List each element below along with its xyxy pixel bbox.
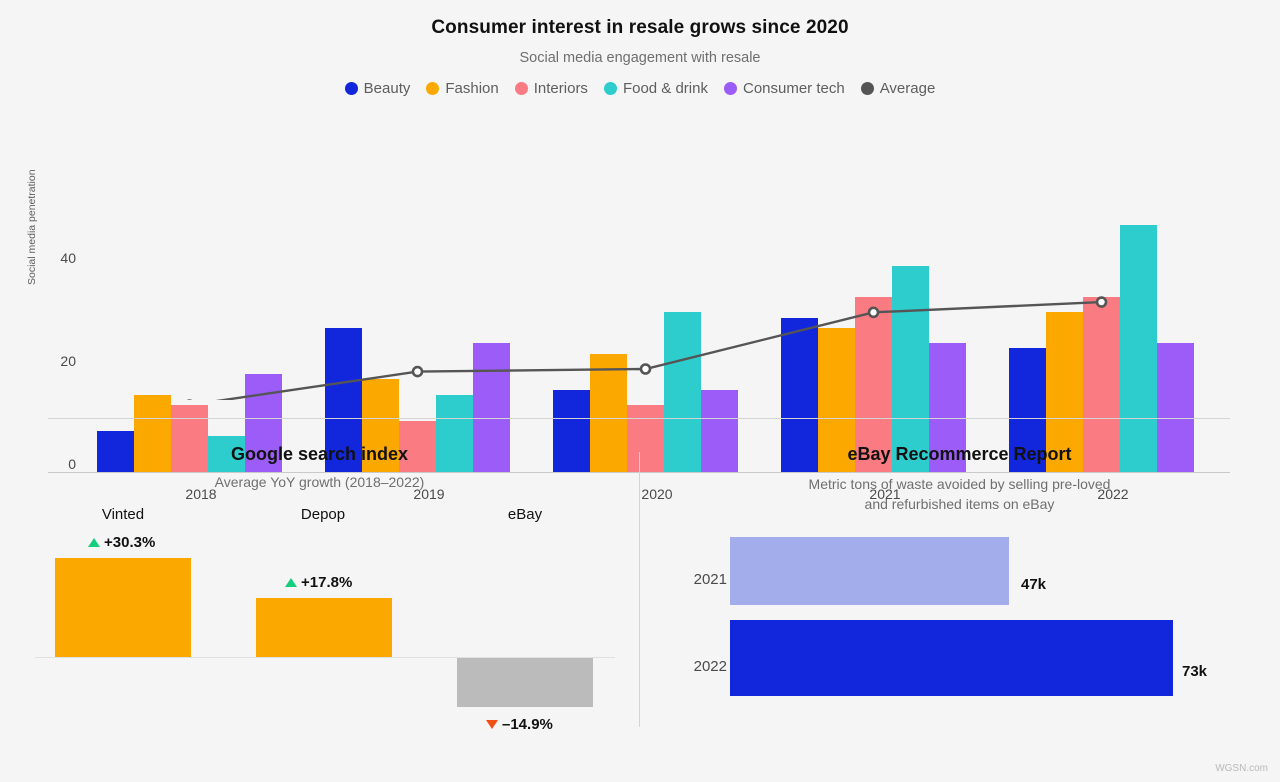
legend-item-average[interactable]: Average <box>861 80 936 97</box>
y-tick-20: 20 <box>42 353 76 369</box>
google-bar-vinted[interactable] <box>55 558 191 657</box>
legend-dot-beauty <box>345 82 358 95</box>
ebay-subtitle-line-2: and refurbished items on eBay <box>639 494 1280 514</box>
page-subtitle: Social media engagement with resale <box>0 50 1280 66</box>
legend-dot-consumer-tech <box>724 82 737 95</box>
google-bar-ebay[interactable] <box>457 658 593 707</box>
legend-item-fashion[interactable]: Fashion <box>426 80 498 97</box>
y-tick-40: 40 <box>42 250 76 266</box>
google-value-depop: +17.8% <box>285 574 352 591</box>
triangle-up-icon <box>285 578 297 587</box>
grouped-bar-chart: Social media penetration 40 20 0 2018 20… <box>0 110 1280 400</box>
ebay-row-label-2022: 2022 <box>667 658 727 675</box>
google-bar-depop[interactable] <box>256 598 392 657</box>
legend-label-average: Average <box>880 80 936 97</box>
legend-dot-average <box>861 82 874 95</box>
average-marker-2019[interactable] <box>413 367 422 376</box>
google-value-vinted-text: +30.3% <box>104 534 155 551</box>
y-axis-label: Social media penetration <box>26 169 38 285</box>
triangle-up-icon <box>88 538 100 547</box>
legend-dot-food-and-drink <box>604 82 617 95</box>
ebay-panel-subtitle: Metric tons of waste avoided by selling … <box>639 474 1280 515</box>
google-panel-subtitle: Average YoY growth (2018–2022) <box>0 474 639 490</box>
legend-dot-fashion <box>426 82 439 95</box>
legend-item-beauty[interactable]: Beauty <box>345 80 411 97</box>
google-value-vinted: +30.3% <box>88 534 155 551</box>
ebay-recommerce-panel: eBay Recommerce Report Metric tons of wa… <box>639 430 1280 782</box>
watermark: WGSN.com <box>1215 763 1268 774</box>
ebay-row-label-2021: 2021 <box>667 571 727 588</box>
google-category-depop: Depop <box>233 506 413 523</box>
average-marker-2020[interactable] <box>641 365 650 374</box>
google-category-vinted: Vinted <box>33 506 213 523</box>
page-title: Consumer interest in resale grows since … <box>0 17 1280 39</box>
ebay-bar-2021[interactable] <box>730 537 1009 605</box>
legend-item-interiors[interactable]: Interiors <box>515 80 588 97</box>
google-search-index-panel: Google search index Average YoY growth (… <box>0 430 639 782</box>
google-value-depop-text: +17.8% <box>301 574 352 591</box>
ebay-subtitle-line-1: Metric tons of waste avoided by selling … <box>639 474 1280 494</box>
legend-label-fashion: Fashion <box>445 80 498 97</box>
google-category-ebay: eBay <box>435 506 615 523</box>
horizontal-divider <box>48 418 1230 419</box>
ebay-value-2021: 47k <box>1021 576 1046 593</box>
google-panel-title: Google search index <box>0 444 639 465</box>
legend-label-interiors: Interiors <box>534 80 588 97</box>
google-value-ebay: –14.9% <box>486 716 553 733</box>
average-markers <box>185 298 1106 400</box>
triangle-down-icon <box>486 720 498 729</box>
legend-label-beauty: Beauty <box>364 80 411 97</box>
google-value-ebay-text: –14.9% <box>502 716 553 733</box>
legend-item-consumer-tech[interactable]: Consumer tech <box>724 80 845 97</box>
ebay-value-2022: 73k <box>1182 663 1207 680</box>
ebay-bar-2022[interactable] <box>730 620 1173 696</box>
ebay-panel-title: eBay Recommerce Report <box>639 444 1280 465</box>
chart-legend: Beauty Fashion Interiors Food & drink Co… <box>0 80 1280 97</box>
legend-item-food-and-drink[interactable]: Food & drink <box>604 80 708 97</box>
legend-label-consumer-tech: Consumer tech <box>743 80 845 97</box>
legend-label-food-and-drink: Food & drink <box>623 80 708 97</box>
legend-dot-interiors <box>515 82 528 95</box>
dashboard-root: Consumer interest in resale grows since … <box>0 0 1280 782</box>
